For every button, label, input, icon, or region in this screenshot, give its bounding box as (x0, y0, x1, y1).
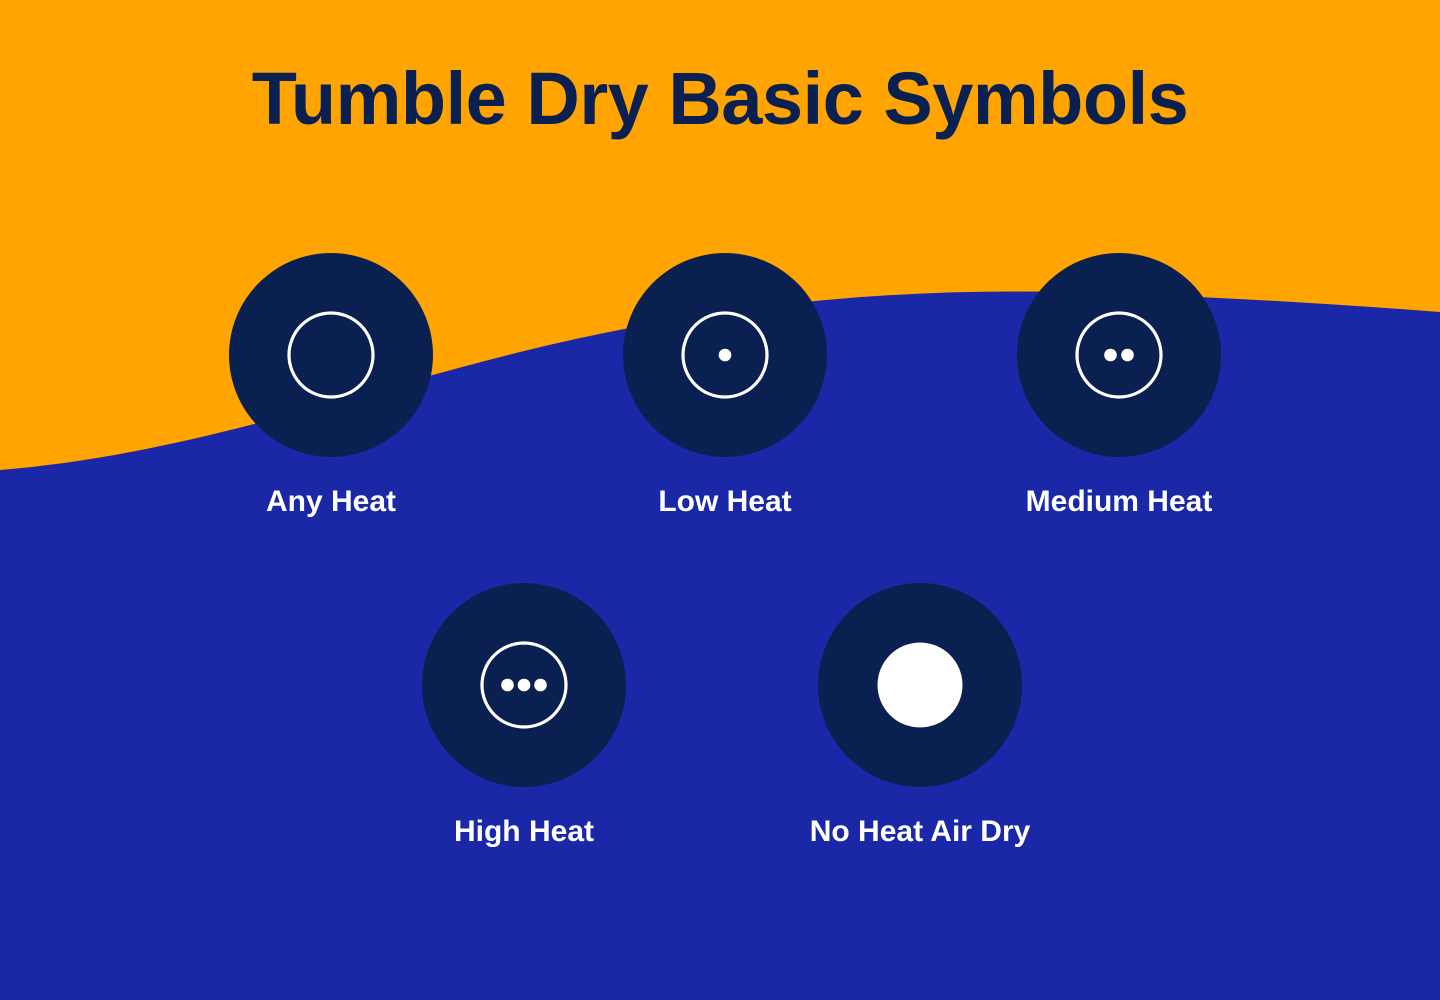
symbol-disc (623, 253, 827, 457)
symbol-item-low-heat[interactable]: Low Heat (623, 253, 827, 519)
symbol-row-bottom: High Heat No Heat Air Dry (0, 583, 1440, 849)
tumble-dry-circle-two-dots-icon (1075, 311, 1163, 399)
symbol-label: Low Heat (658, 485, 791, 519)
symbol-disc (422, 583, 626, 787)
symbol-item-medium-heat[interactable]: Medium Heat (1017, 253, 1221, 519)
symbol-label: High Heat (454, 815, 594, 849)
symbol-item-no-heat-air-dry[interactable]: No Heat Air Dry (818, 583, 1022, 849)
symbol-disc (818, 583, 1022, 787)
tumble-dry-circle-one-dot-icon (681, 311, 769, 399)
symbol-row-top: Any Heat Low Heat Medium Heat (0, 253, 1440, 519)
tumble-dry-circle-three-dots-icon (480, 641, 568, 729)
symbol-item-high-heat[interactable]: High Heat (422, 583, 626, 849)
symbol-disc (1017, 253, 1221, 457)
symbol-label: Medium Heat (1026, 485, 1213, 519)
symbol-label: No Heat Air Dry (810, 815, 1031, 849)
tumble-dry-circle-empty-icon (287, 311, 375, 399)
tumble-dry-circle-filled-icon (876, 641, 964, 729)
tumble-dry-symbols-infographic: Tumble Dry Basic Symbols Any Heat Low He… (0, 0, 1440, 1000)
page-title: Tumble Dry Basic Symbols (0, 62, 1440, 136)
symbol-item-any-heat[interactable]: Any Heat (229, 253, 433, 519)
symbol-label: Any Heat (266, 485, 396, 519)
symbol-disc (229, 253, 433, 457)
